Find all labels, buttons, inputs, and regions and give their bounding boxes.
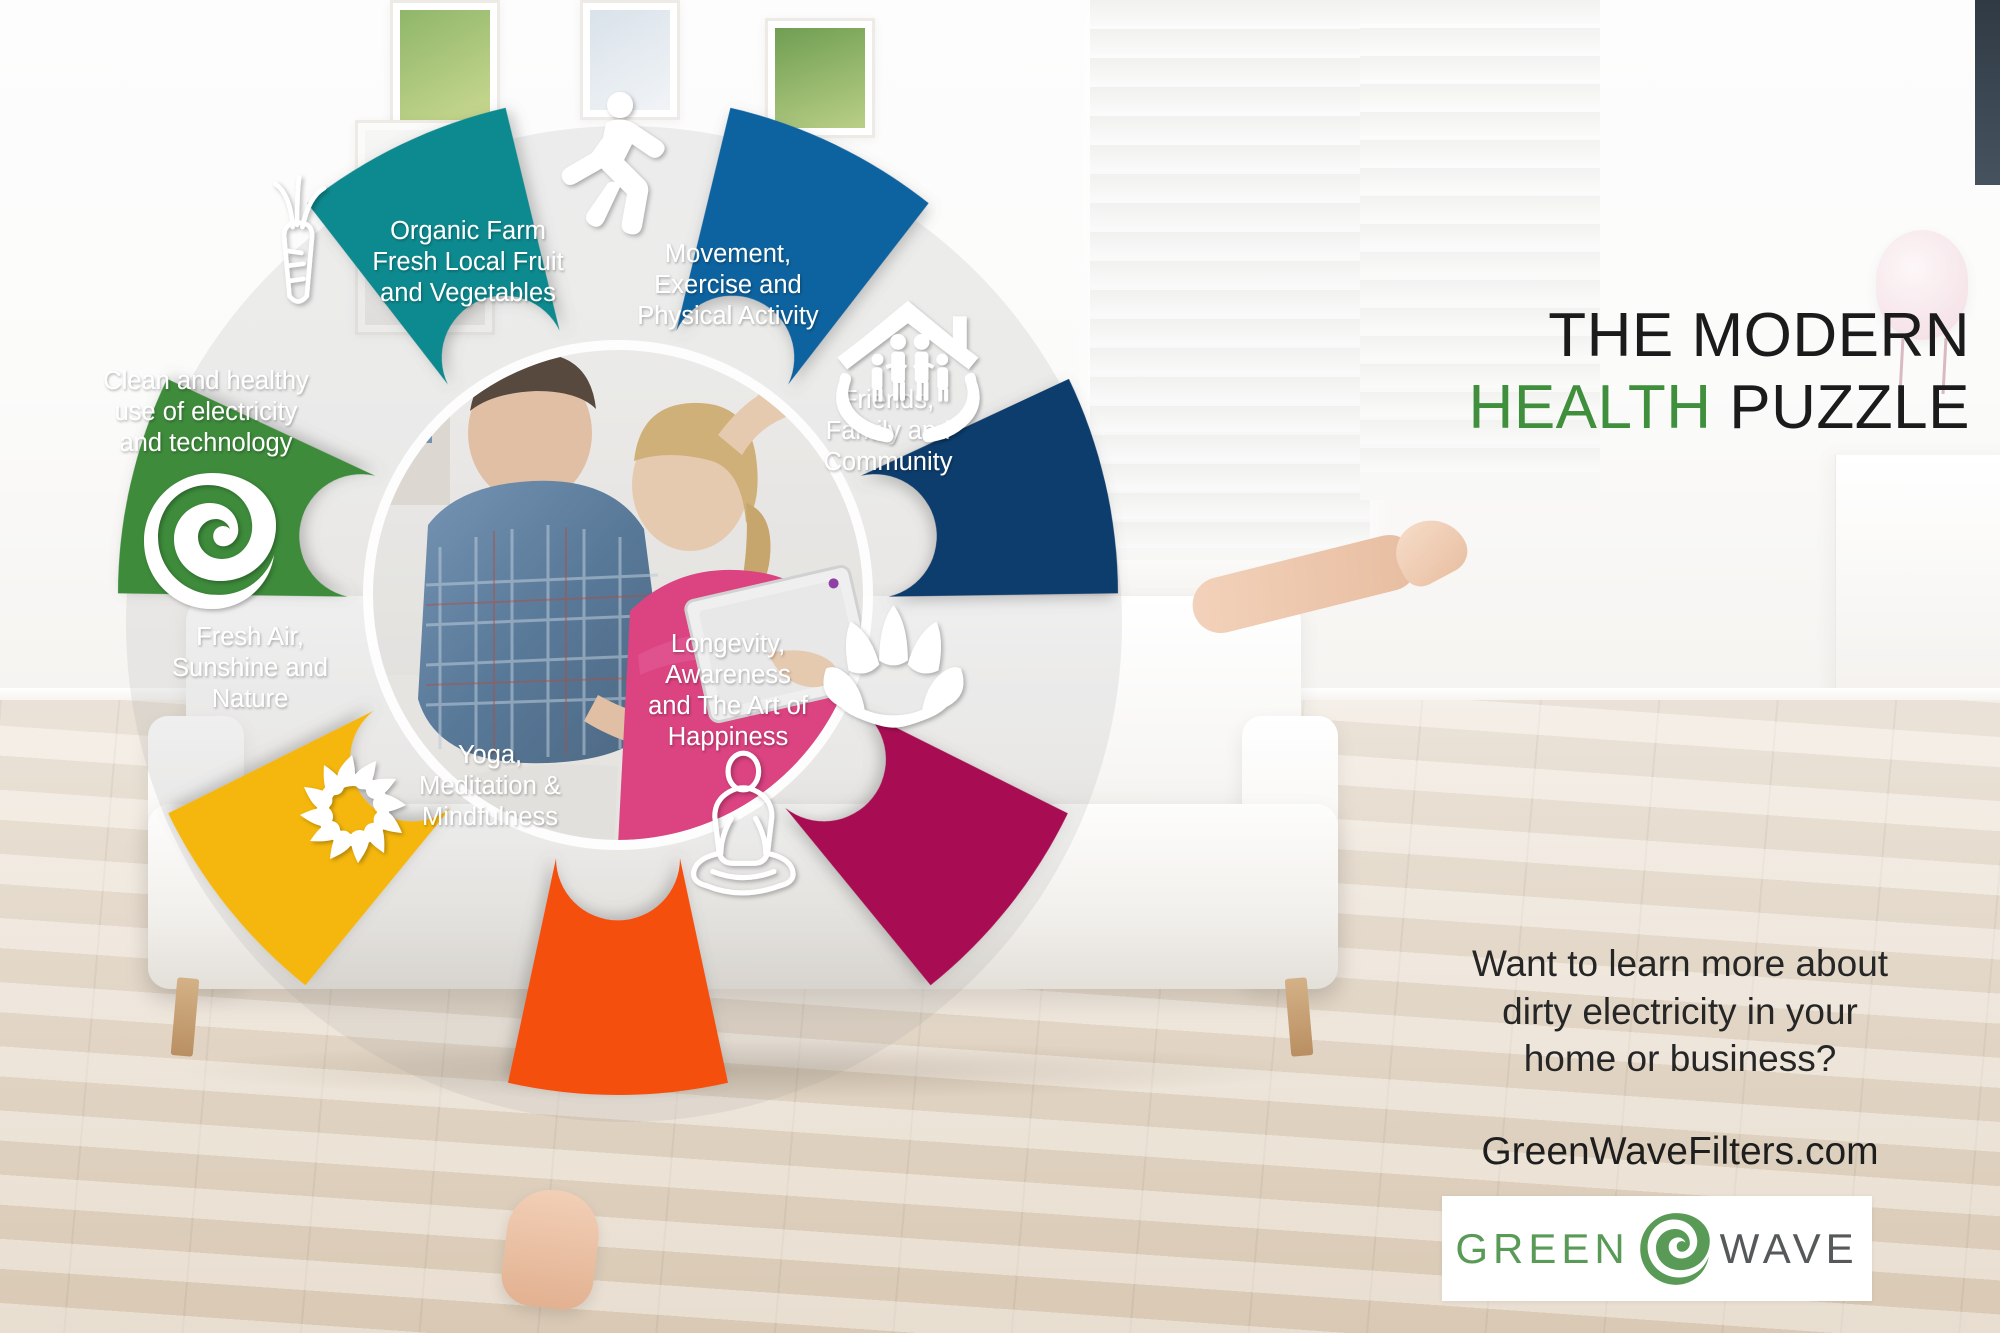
cta-line-1: Want to learn more about [1400,940,1960,988]
clean-electricity-line-1: Clean and healthy [103,367,309,395]
right-column: THE MODERN HEALTH PUZZLE Want to learn m… [1330,0,2000,1333]
fresh-air-line-2: Sunshine and [172,654,328,682]
organic-farm-line-2: Fresh Local Fruit [372,248,563,276]
movement-line-2: Exercise and [654,271,801,299]
greenwave-spiral-icon [1636,1210,1714,1288]
longevity-line-4: Happiness [668,723,789,751]
yoga-line-3: Mindfulness [422,803,558,831]
fresh-air-line-3: Nature [212,685,289,713]
cta-line-3: home or business? [1400,1035,1960,1083]
cta-line-2: dirty electricity in your [1400,988,1960,1036]
health-puzzle-wheel: Organic Farm Fresh Local Fruit and Veget… [78,55,1158,1135]
organic-farm-line-3: and Vegetables [380,279,556,307]
title-line-2: HEALTH PUZZLE [1330,372,1970,444]
movement-line-3: Physical Activity [637,302,819,330]
sofa-leg [1285,977,1314,1057]
longevity-line-1: Longevity, [671,630,785,658]
organic-farm-line-1: Organic Farm [390,217,546,245]
clean-electricity-line-3: and technology [120,429,293,457]
infographic-canvas: Organic Farm Fresh Local Fruit and Veget… [0,0,2000,1333]
logo-wave-word: WAVE [1720,1225,1859,1273]
yoga-line-2: Meditation & [419,772,561,800]
yoga-line-1: Yoga, [458,741,522,769]
page-title: THE MODERN HEALTH PUZZLE [1330,300,1970,444]
greenwave-logo[interactable]: GREEN WAVE [1442,1196,1872,1301]
title-line-1: THE MODERN [1330,300,1970,372]
title-puzzle-word: PUZZLE [1712,373,1970,442]
movement-line-1: Movement, [665,240,791,268]
longevity-line-2: Awareness [665,661,791,689]
title-health-word: HEALTH [1469,373,1712,442]
logo-green-word: GREEN [1455,1225,1629,1273]
clean-electricity-line-2: use of electricity [115,398,298,426]
longevity-line-3: and The Art of [648,692,809,720]
label-organic-farm: Organic Farm Fresh Local Fruit and Veget… [372,217,563,307]
friends-line-3: Community [824,448,953,476]
label-clean-electricity: Clean and healthy use of electricity and… [103,367,309,457]
website-url[interactable]: GreenWaveFilters.com [1400,1130,1960,1174]
cta-text: Want to learn more about dirty electrici… [1400,940,1960,1083]
fresh-air-line-1: Fresh Air, [196,623,304,651]
